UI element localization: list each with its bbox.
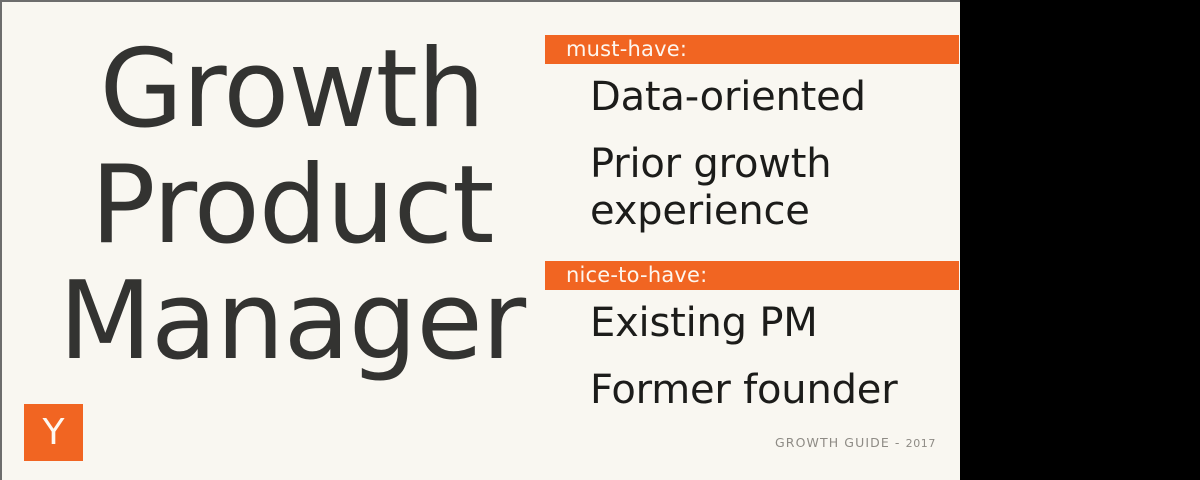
page-title: Growth Product Manager <box>42 32 542 380</box>
group-header-nice-to-have: nice-to-have: <box>545 261 959 290</box>
slide-canvas: Growth Product Manager must-have: Data-o… <box>0 0 960 480</box>
list-item: Existing PM <box>590 300 959 347</box>
requirements-section: must-have: Data-oriented Prior growth ex… <box>545 35 959 414</box>
title-line-2: Product <box>42 148 542 264</box>
list-item: Data-oriented <box>590 74 959 121</box>
requirement-group-must-have: must-have: Data-oriented Prior growth ex… <box>545 35 959 235</box>
y-combinator-logo: Y <box>24 404 83 461</box>
footer-credit-year: 2017 <box>906 437 936 450</box>
group-items-nice-to-have: Existing PM Former founder <box>545 290 959 414</box>
title-line-1: Growth <box>42 32 542 148</box>
screenshot-canvas: Growth Product Manager must-have: Data-o… <box>0 0 1200 480</box>
footer-credit: GROWTH GUIDE - 2017 <box>775 435 936 450</box>
logo-letter: Y <box>24 404 83 461</box>
list-item: Former founder <box>590 367 959 414</box>
group-items-must-have: Data-oriented Prior growth experience <box>545 64 959 235</box>
group-header-must-have: must-have: <box>545 35 959 64</box>
title-line-3: Manager <box>42 264 542 380</box>
requirement-group-nice-to-have: nice-to-have: Existing PM Former founder <box>545 261 959 414</box>
footer-credit-label: GROWTH GUIDE - <box>775 435 901 450</box>
list-item: Prior growth experience <box>590 141 959 235</box>
